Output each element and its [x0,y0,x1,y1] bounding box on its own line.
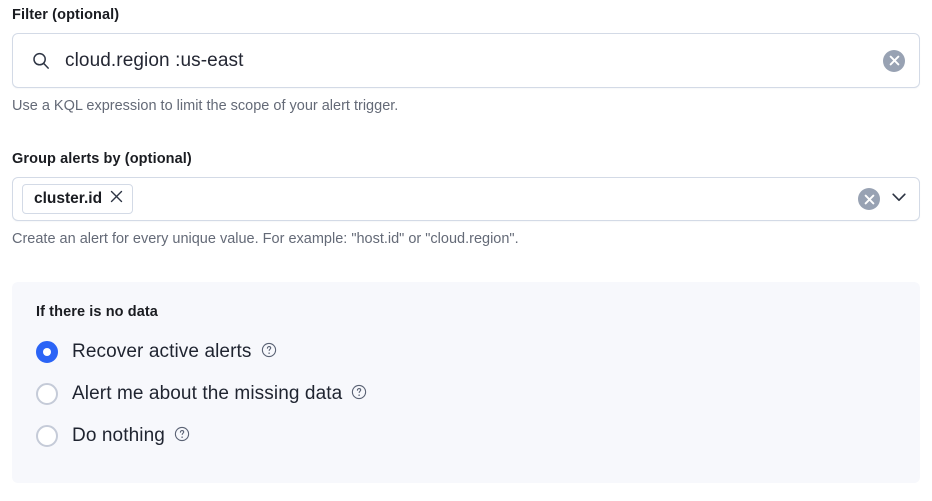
radio-label: Do nothing [72,425,165,447]
no-data-title: If there is no data [36,304,920,320]
filter-field-group: Filter (optional) cloud.region :us-east … [12,6,920,116]
radio-label: Alert me about the missing data [72,383,342,405]
chevron-down-icon[interactable] [889,187,909,212]
no-data-panel: If there is no data Recover active alert… [12,282,920,483]
group-alerts-field-group: Group alerts by (optional) cluster.id [12,150,920,249]
radio-option-alert-me-about-missing-data[interactable]: Alert me about the missing data [36,377,920,411]
group-alerts-help-text: Create an alert for every unique value. … [12,230,920,249]
group-alerts-pill[interactable]: cluster.id [22,184,133,214]
filter-input-value[interactable]: cloud.region :us-east [65,50,883,72]
filter-help-text: Use a KQL expression to limit the scope … [12,97,920,116]
filter-search-input[interactable]: cloud.region :us-east [12,33,920,88]
radio-option-do-nothing[interactable]: Do nothing [36,419,920,453]
radio-option-recover-active-alerts[interactable]: Recover active alerts [36,335,920,369]
filter-clear-button[interactable] [883,50,905,72]
filter-label: Filter (optional) [12,6,920,24]
search-icon [31,51,51,71]
question-in-circle-icon[interactable] [261,342,277,363]
pill-remove-icon[interactable] [110,190,123,208]
alert-rule-form: Filter (optional) cloud.region :us-east … [0,0,932,501]
group-alerts-label: Group alerts by (optional) [12,150,920,168]
radio-button-selected[interactable] [36,341,58,363]
group-alerts-pill-label: cluster.id [34,190,102,208]
radio-label: Recover active alerts [72,341,252,363]
radio-button-unselected[interactable] [36,425,58,447]
radio-button-unselected[interactable] [36,383,58,405]
group-alerts-clear-button[interactable] [858,188,880,210]
combobox-actions [858,187,909,212]
question-in-circle-icon[interactable] [174,426,190,447]
close-icon [889,55,900,66]
close-icon [864,194,875,205]
question-in-circle-icon[interactable] [351,384,367,405]
group-alerts-combobox[interactable]: cluster.id [12,177,920,221]
